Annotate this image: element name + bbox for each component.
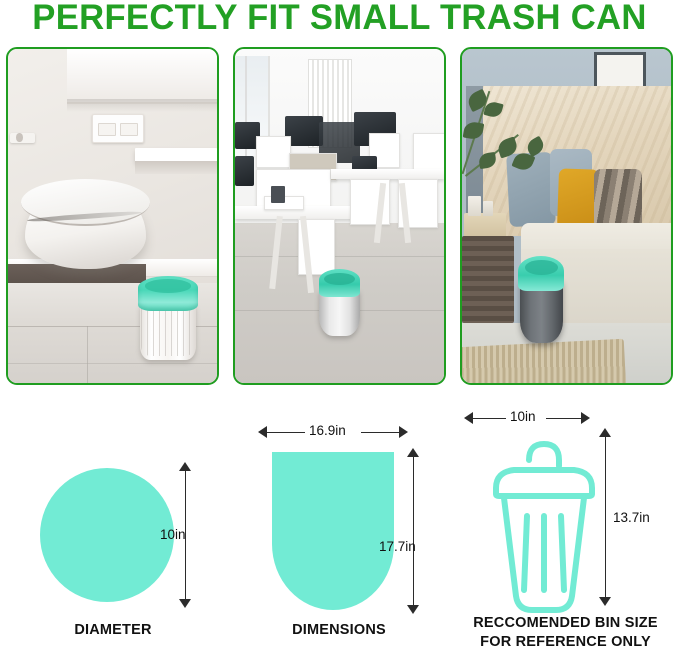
bathroom-scene <box>8 49 217 383</box>
diameter-caption: DIAMETER <box>0 622 226 638</box>
arrow-head-down-icon <box>179 599 191 608</box>
recommended-bin-caption: RECCOMENDED BIN SIZE FOR REFERENCE ONLY <box>452 614 679 652</box>
width-horizontal-arrow: 16.9in <box>258 426 408 439</box>
photo-panel-bedroom <box>460 47 673 385</box>
recommended-bin-caption-line2: FOR REFERENCE ONLY <box>452 633 679 652</box>
trash-bag-opening <box>324 273 354 285</box>
arrow-head-down-icon <box>407 605 419 614</box>
arrow-line <box>546 418 581 419</box>
arrow-line <box>605 434 606 600</box>
pillow-mustard <box>557 169 599 230</box>
recommended-bin-caption-line1: RECCOMENDED BIN SIZE <box>452 614 679 633</box>
photo-panel-row <box>6 47 673 385</box>
floor-tile-line <box>87 326 88 383</box>
wall-alcove <box>67 49 217 104</box>
storage-basket <box>462 236 514 323</box>
arrow-head-right-icon <box>399 426 408 438</box>
flush-plate <box>92 114 144 143</box>
monitor <box>235 156 254 186</box>
height-measure-label: 17.7in <box>379 539 416 554</box>
trash-can-office <box>319 269 361 336</box>
trash-can-bedroom <box>518 256 564 343</box>
trash-bag-opening <box>145 279 191 292</box>
diagram-recommended-bin: 10in 13.7in <box>452 400 679 670</box>
floor-tile-line <box>8 363 217 364</box>
woven-rug <box>462 339 626 383</box>
desk-surface <box>331 169 444 179</box>
diameter-measure-label: 10in <box>160 527 186 542</box>
arrow-head-left-icon <box>258 426 267 438</box>
candle <box>483 201 493 216</box>
bin-width-measure-label: 10in <box>506 409 540 424</box>
dimensions-caption: DIMENSIONS <box>226 622 452 638</box>
desk-divider <box>256 136 291 168</box>
diagram-row: 10in DIAMETER 16.9in 17.7in DIMENSIONS <box>0 400 679 670</box>
trash-can-outline-icon <box>474 438 614 618</box>
trash-can-ribs <box>141 304 194 356</box>
photo-panel-office <box>233 47 446 385</box>
height-vertical-arrow <box>407 448 420 614</box>
infographic-page: PERFECTLY FIT SMALL TRASH CAN <box>0 0 679 670</box>
width-measure-label: 16.9in <box>305 423 350 438</box>
bin-height-vertical-arrow <box>599 428 612 606</box>
arrow-line <box>413 454 414 608</box>
arrow-line <box>267 432 305 433</box>
diagram-diameter: 10in DIAMETER <box>0 400 226 670</box>
pen-cup <box>271 186 286 203</box>
alcove-shadow <box>67 99 217 112</box>
office-scene <box>235 49 444 383</box>
page-title: PERFECTLY FIT SMALL TRASH CAN <box>3 0 675 38</box>
arrow-line <box>361 432 399 433</box>
wall-shelf <box>135 148 217 162</box>
circle-shape <box>40 468 174 602</box>
arrow-head-right-icon <box>581 412 590 424</box>
arrow-head-down-icon <box>599 597 611 606</box>
bedroom-scene <box>462 49 671 383</box>
arrow-line <box>473 418 508 419</box>
bin-height-measure-label: 13.7in <box>613 510 650 525</box>
paper-holder-knob <box>16 133 22 142</box>
trash-can-bathroom <box>138 276 199 360</box>
u-shape <box>272 452 394 610</box>
pillow-striped <box>594 169 642 229</box>
photo-panel-bathroom <box>6 47 219 385</box>
arrow-head-left-icon <box>464 412 473 424</box>
bin-width-horizontal-arrow: 10in <box>464 412 590 425</box>
candle <box>468 196 481 216</box>
floor-seam <box>235 256 444 257</box>
shelf-underside <box>135 161 217 174</box>
diagram-dimensions: 16.9in 17.7in DIMENSIONS <box>226 400 452 670</box>
